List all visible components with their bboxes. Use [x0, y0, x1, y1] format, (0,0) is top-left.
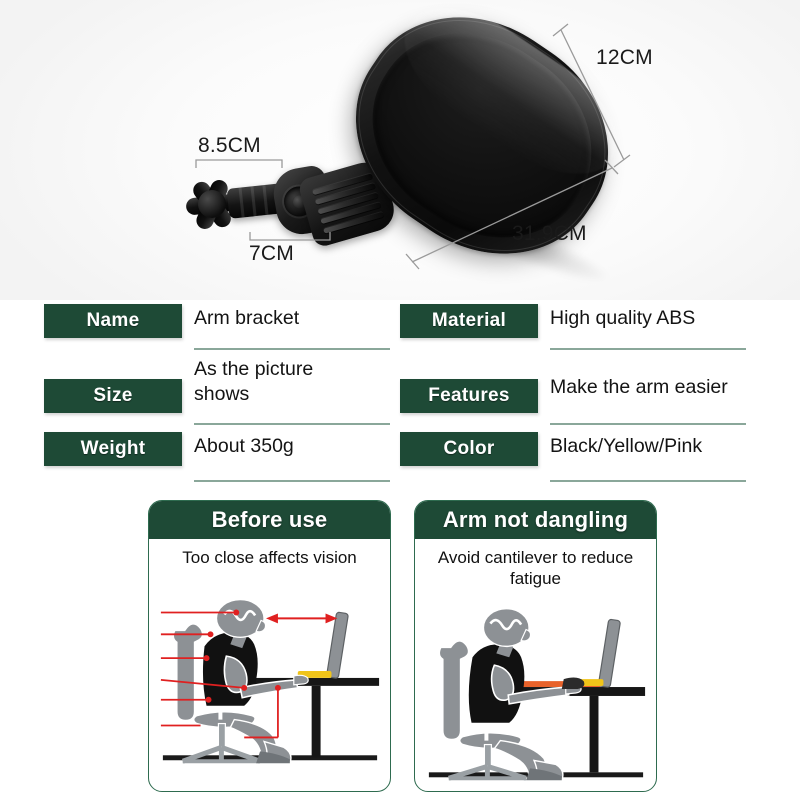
spec-column-left: Name Arm bracket Size As the picture sho…: [44, 300, 392, 489]
spec-value-material: High quality ABS: [550, 306, 748, 331]
spec-value-features: Make the arm easier: [550, 375, 748, 400]
specification-table: Name Arm bracket Size As the picture sho…: [0, 300, 800, 490]
panel-header: Arm not dangling: [415, 501, 656, 539]
spec-underline: [550, 480, 746, 482]
spec-key-material: Material: [400, 304, 538, 338]
spec-underline: [194, 348, 390, 350]
spec-row-features: Features Make the arm easier: [400, 363, 748, 421]
spec-row-color: Color Black/Yellow/Pink: [400, 426, 748, 484]
posture-illustration-bad: [149, 570, 390, 770]
spec-key-weight: Weight: [44, 432, 182, 466]
spec-key-size: Size: [44, 379, 182, 413]
spec-column-right: Material High quality ABS Features Make …: [400, 300, 748, 489]
panel-title: Arm not dangling: [443, 507, 628, 533]
spec-key-name: Name: [44, 304, 182, 338]
spec-value-weight: About 350g: [194, 434, 392, 459]
spec-underline: [194, 423, 390, 425]
spec-underline: [194, 480, 390, 482]
dimension-label-height: 12CM: [596, 46, 653, 70]
posture-illustration-good: [415, 591, 656, 791]
dimension-label-yoke-width: 7CM: [249, 242, 294, 266]
spec-key-label: Material: [432, 310, 506, 332]
dimension-label-length: 31.9CM: [512, 222, 587, 246]
spec-underline: [550, 423, 746, 425]
panel-subtitle: Avoid cantilever to reduce fatigue: [415, 539, 656, 591]
comparison-panel-arm-not-dangling: Arm not dangling Avoid cantilever to red…: [414, 500, 657, 792]
dimension-label-clamp-span: 8.5CM: [198, 134, 261, 158]
spec-key-label: Name: [87, 310, 140, 332]
spec-key-label: Color: [443, 438, 494, 460]
spec-value-size: As the picture shows: [194, 357, 344, 407]
comparison-panel-before-use: Before use Too close affects vision: [148, 500, 391, 792]
spec-key-label: Size: [93, 385, 132, 407]
spec-key-color: Color: [400, 432, 538, 466]
spec-row-name: Name Arm bracket: [44, 300, 392, 358]
spec-underline: [550, 348, 746, 350]
spec-key-label: Weight: [81, 438, 146, 460]
product-photo-section: 12CM 31.9CM 8.5CM 7CM: [0, 0, 800, 300]
spec-row-material: Material High quality ABS: [400, 300, 748, 358]
panel-title: Before use: [212, 507, 328, 533]
spec-key-features: Features: [400, 379, 538, 413]
product-infographic: 12CM 31.9CM 8.5CM 7CM Name Arm bracket S…: [0, 0, 800, 800]
spec-value-name: Arm bracket: [194, 306, 392, 331]
spec-row-size: Size As the picture shows: [44, 363, 392, 421]
spec-value-color: Black/Yellow/Pink: [550, 434, 748, 459]
panel-subtitle: Too close affects vision: [149, 539, 390, 570]
spec-key-label: Features: [428, 385, 510, 407]
panel-header: Before use: [149, 501, 390, 539]
spec-row-weight: Weight About 350g: [44, 426, 392, 484]
